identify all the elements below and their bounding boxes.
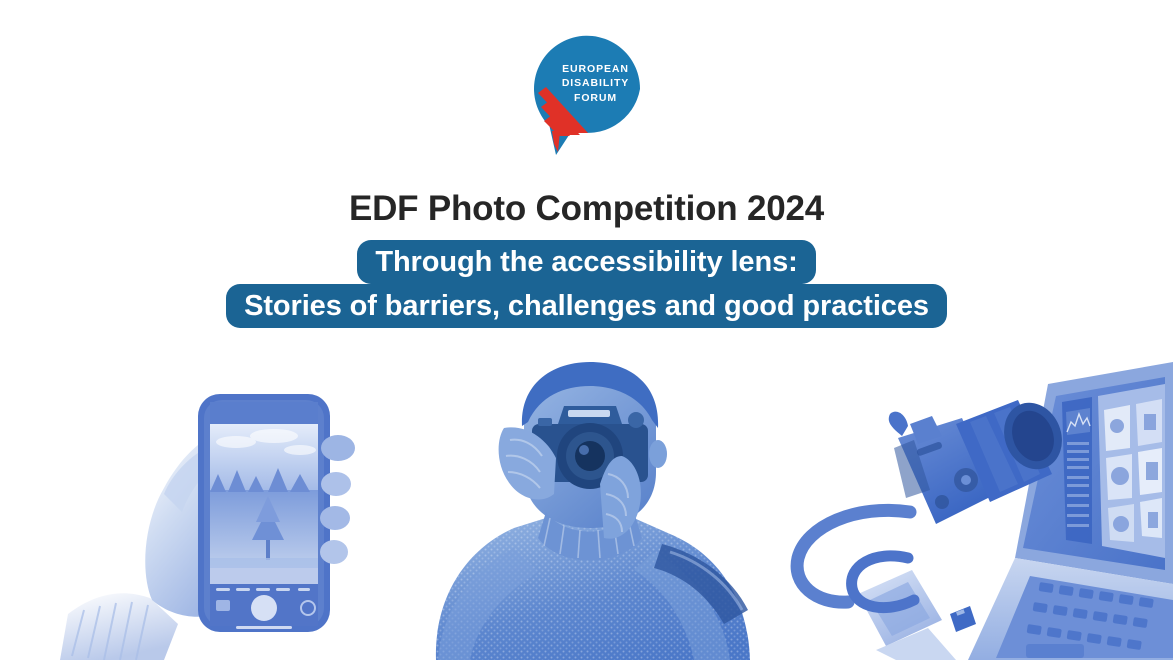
dslr-strap-lug xyxy=(889,412,908,436)
subtitle-line-2: Stories of barriers, challenges and good… xyxy=(244,290,929,322)
logo-container: EUROPEAN DISABILITY FORUM xyxy=(0,34,1173,156)
photo-person-with-camera xyxy=(418,362,763,660)
page-title: EDF Photo Competition 2024 xyxy=(0,190,1173,229)
camera-shutter-dial xyxy=(628,412,644,428)
camera-gallery-thumb xyxy=(216,600,230,611)
european-disability-forum-logo: EUROPEAN DISABILITY FORUM xyxy=(528,34,646,156)
camera-lens-glass xyxy=(575,441,605,471)
photo-hand-holding-smartphone xyxy=(60,362,390,660)
camera-rewind-knob xyxy=(538,418,552,426)
screen-top-bar xyxy=(210,402,318,424)
subtitle-text: Through the accessibility lens:Stories o… xyxy=(226,240,947,328)
laptop-trackpad xyxy=(1026,644,1084,658)
photo-camera-laptop-prints xyxy=(790,362,1173,660)
camera-shutter-button xyxy=(251,595,277,621)
subtitle-banner: Through the accessibility lens:Stories o… xyxy=(0,240,1173,328)
poster-canvas: EUROPEAN DISABILITY FORUM EDF Photo Comp… xyxy=(0,0,1173,660)
phone-home-indicator xyxy=(236,626,292,629)
subtitle-line-1: Through the accessibility lens: xyxy=(375,246,797,278)
camera-brand-plate xyxy=(568,410,610,417)
editor-histogram xyxy=(1066,408,1090,435)
dslr-mode-dial-center xyxy=(961,475,971,485)
camera-lens-reflection xyxy=(579,445,589,455)
dslr-button xyxy=(935,495,949,509)
ear-right xyxy=(649,440,667,468)
photo-strip xyxy=(0,362,1173,660)
laptop xyxy=(968,362,1173,660)
screen-grass xyxy=(210,568,318,584)
